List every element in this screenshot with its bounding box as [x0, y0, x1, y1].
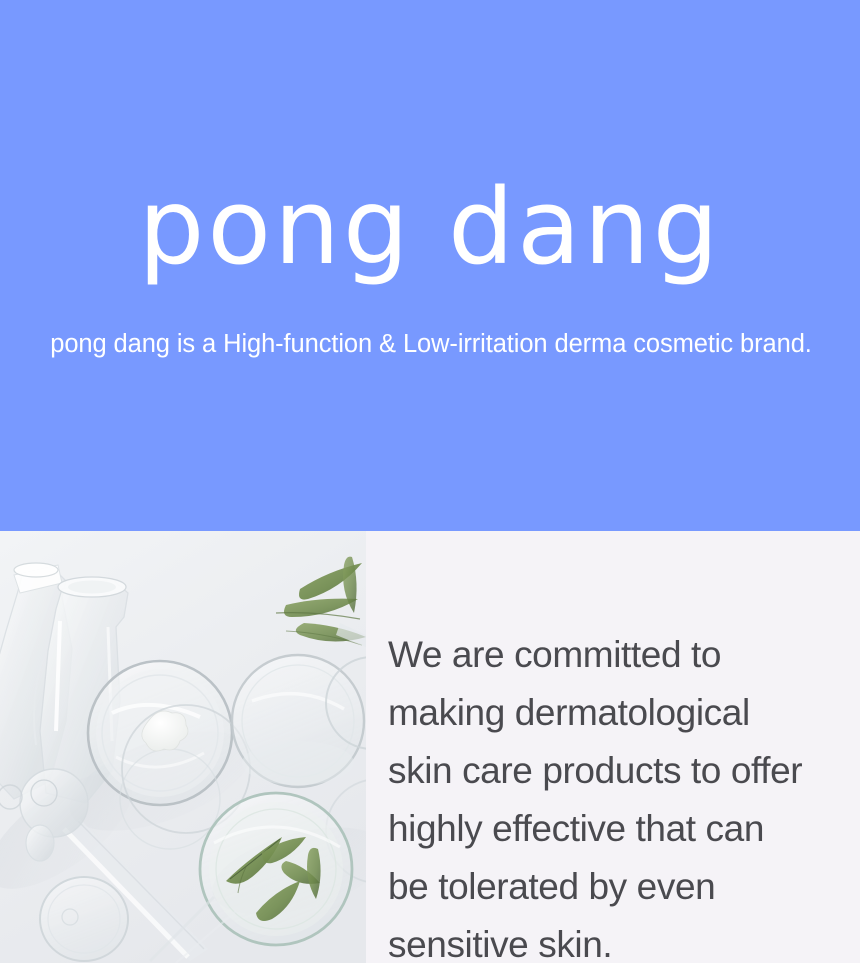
brand-landing-page: pong dang pong dang is a High-function &… [0, 0, 860, 963]
about-copy-line-5: be tolerated by even [388, 858, 856, 916]
brand-tagline: pong dang is a High-function & Low-irrit… [14, 327, 848, 361]
about-copy-block: We are committed to making dermatologica… [388, 626, 856, 963]
lab-photo-panel [0, 531, 366, 963]
hero-section: pong dang pong dang is a High-function &… [0, 0, 860, 531]
about-copy-line-1: We are committed to [388, 626, 856, 684]
lab-flatlay-image [0, 531, 366, 963]
small-glass-dish [40, 877, 128, 961]
about-copy-line-2: making dermatological [388, 684, 856, 742]
about-copy-panel: We are committed to making dermatologica… [366, 531, 860, 963]
brand-logo: pong dang [0, 172, 860, 282]
right-petri-dish [232, 655, 364, 787]
about-copy-line-4: highly effective that can [388, 800, 856, 858]
about-copy-line-3: skin care products to offer [388, 742, 856, 800]
about-copy-line-6: sensitive skin. [388, 916, 856, 963]
about-section: We are committed to making dermatologica… [0, 531, 860, 963]
